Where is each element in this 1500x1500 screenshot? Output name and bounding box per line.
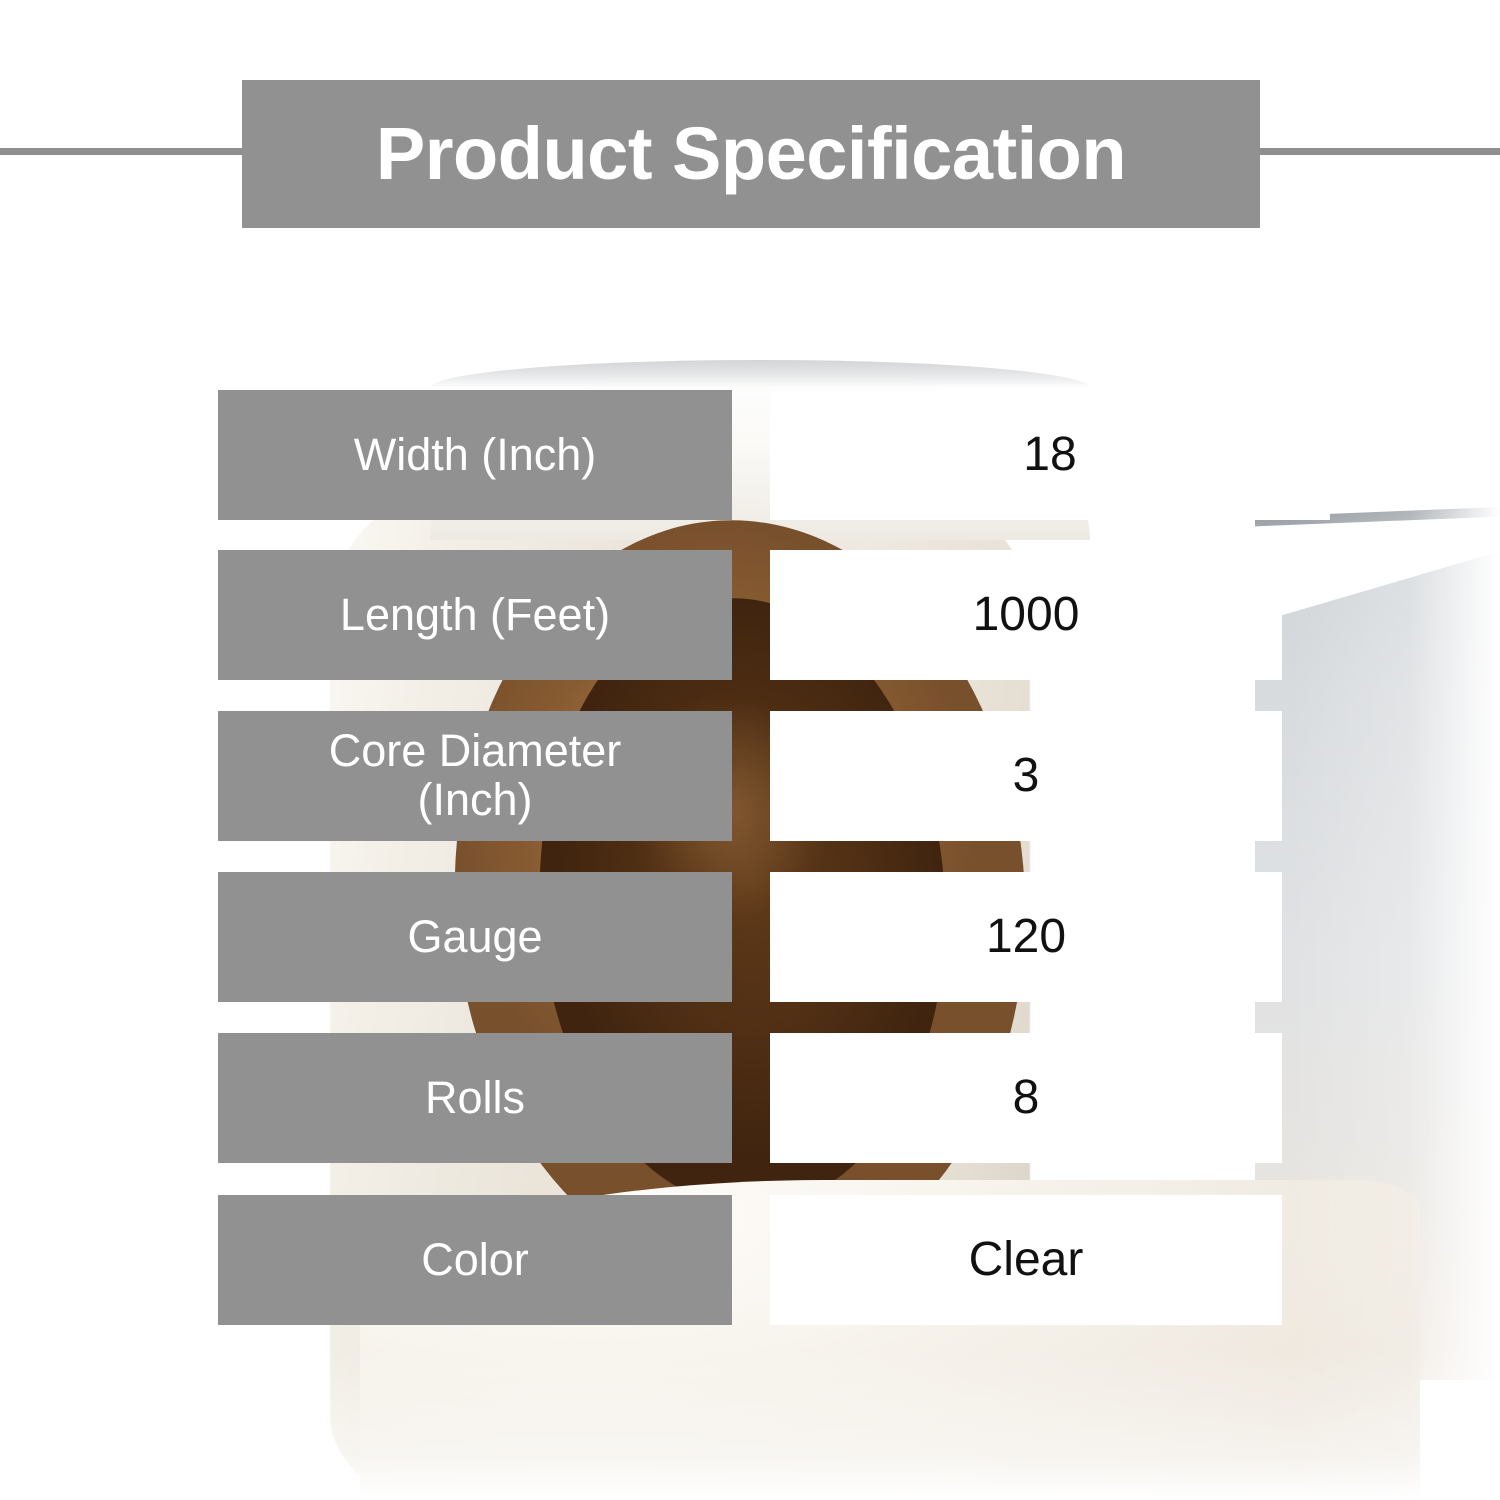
spec-label-core-diameter: Core Diameter(Inch): [218, 711, 732, 841]
spec-label-text: Length (Feet): [340, 591, 610, 640]
spec-value-text: 8: [1013, 1073, 1040, 1123]
table-row: Core Diameter(Inch) 3: [218, 711, 1282, 841]
table-row: Gauge 120: [218, 872, 1282, 1002]
spec-label-width: Width (Inch): [218, 390, 732, 520]
spec-value-color: Clear: [770, 1195, 1282, 1325]
spec-label-text: Color: [421, 1236, 529, 1285]
spec-value-rolls: 8: [770, 1033, 1282, 1163]
spec-value-width: 18: [770, 390, 1330, 520]
page-header: Product Specification: [0, 80, 1500, 230]
spec-label-text: Gauge: [407, 913, 542, 962]
product-specification-page: Product Specification Width (Inch) 18 Le…: [0, 0, 1500, 1500]
header-rule-right: [1252, 148, 1500, 155]
table-row: Width (Inch) 18: [218, 390, 1282, 520]
page-title: Product Specification: [376, 117, 1126, 191]
title-banner: Product Specification: [242, 80, 1260, 228]
spec-label-gauge: Gauge: [218, 872, 732, 1002]
spec-label-length: Length (Feet): [218, 550, 732, 680]
spec-value-gauge: 120: [770, 872, 1282, 1002]
spec-label-text: Rolls: [425, 1074, 525, 1123]
spec-value-text: 1000: [973, 590, 1080, 640]
table-row: Rolls 8: [218, 1033, 1282, 1163]
header-rule-left: [0, 148, 250, 155]
spec-value-text: 18: [1023, 430, 1076, 480]
table-row: Length (Feet) 1000: [218, 550, 1282, 680]
spec-label-color: Color: [218, 1195, 732, 1325]
spec-value-text: 120: [986, 912, 1066, 962]
spec-label-rolls: Rolls: [218, 1033, 732, 1163]
spec-label-text: Core Diameter(Inch): [329, 727, 622, 824]
spec-value-core-diameter: 3: [770, 711, 1282, 841]
spec-value-length: 1000: [770, 550, 1282, 680]
table-row: Color Clear: [218, 1195, 1282, 1325]
spec-value-text: 3: [1013, 751, 1040, 801]
spec-value-text: Clear: [969, 1235, 1084, 1285]
spec-label-text: Width (Inch): [354, 431, 597, 480]
